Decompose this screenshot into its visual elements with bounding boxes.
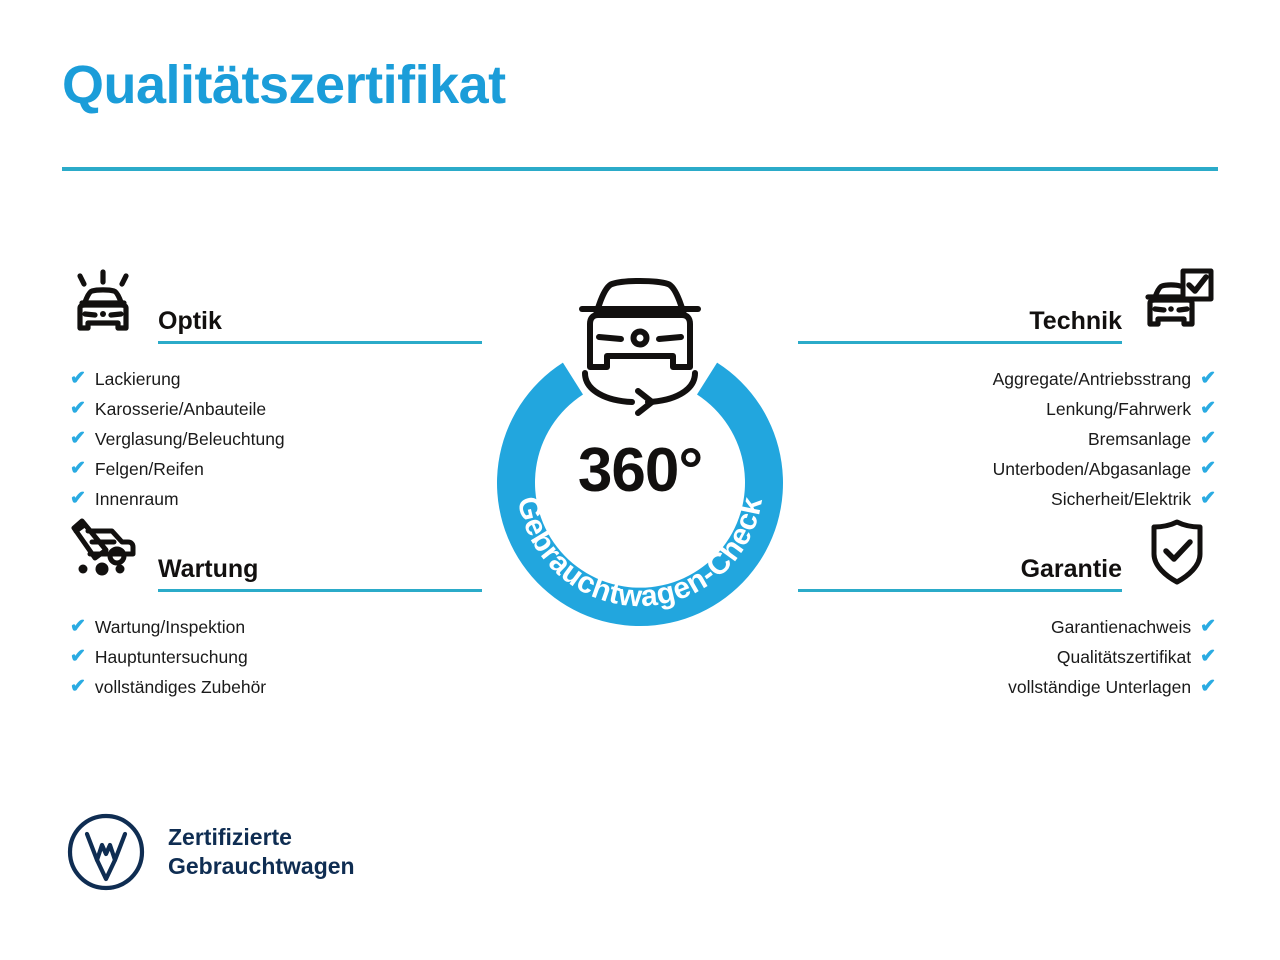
section-technik: Technik ✔Aggregate/Antriebsstrang ✔Lenku…: [798, 252, 1218, 514]
check-icon: ✔: [1200, 369, 1216, 388]
section-title-garantie: Garantie: [798, 556, 1122, 590]
check-icon: ✔: [1200, 677, 1216, 696]
check-icon: ✔: [70, 677, 86, 696]
list-item-label: Verglasung/Beleuchtung: [95, 424, 285, 454]
check-icon: ✔: [70, 647, 86, 666]
section-wartung: Wartung ✔Wartung/Inspektion ✔Hauptunters…: [62, 500, 482, 702]
checklist-optik: ✔Lackierung ✔Karosserie/Anbauteile ✔Verg…: [62, 344, 482, 514]
car-service-pen-icon: [62, 510, 144, 592]
section-underline-garantie: [798, 589, 1122, 592]
check-icon: ✔: [1200, 399, 1216, 418]
car-checkbox-icon: [1136, 262, 1218, 344]
badge-number: 360°: [455, 440, 825, 502]
list-item: ✔Bremsanlage: [1088, 424, 1218, 454]
footer-brand: Zertifizierte Gebrauchtwagen: [66, 812, 355, 892]
check-icon: ✔: [1200, 429, 1216, 448]
volkswagen-logo: [66, 812, 146, 892]
section-title-wartung: Wartung: [158, 556, 482, 590]
list-item: ✔Karosserie/Anbauteile: [70, 394, 482, 424]
checklist-wartung: ✔Wartung/Inspektion ✔Hauptuntersuchung ✔…: [62, 592, 482, 702]
list-item-label: Hauptuntersuchung: [95, 642, 248, 672]
footer-line-2: Gebrauchtwagen: [168, 852, 355, 881]
list-item: ✔vollständige Unterlagen: [1008, 672, 1218, 702]
section-underline-technik: [798, 341, 1122, 344]
list-item: ✔Aggregate/Antriebsstrang: [993, 364, 1218, 394]
list-item-label: Garantienachweis: [1051, 612, 1191, 642]
badge-360-gebrauchtwagen-check: Gebrauchtwagen-Check 360°: [455, 243, 825, 643]
list-item-label: Wartung/Inspektion: [95, 612, 245, 642]
section-garantie: Garantie ✔Garantienachweis ✔Qualitätszer…: [798, 500, 1218, 702]
list-item-label: vollständige Unterlagen: [1008, 672, 1191, 702]
section-optik: Optik ✔Lackierung ✔Karosserie/Anbauteile…: [62, 252, 482, 514]
list-item-label: Unterboden/Abgasanlage: [993, 454, 1192, 484]
footer-line-1: Zertifizierte: [168, 823, 355, 852]
list-item: ✔Qualitätszertifikat: [1057, 642, 1218, 672]
car-shine-icon: [62, 262, 144, 344]
list-item-label: Felgen/Reifen: [95, 454, 204, 484]
checklist-technik: ✔Aggregate/Antriebsstrang ✔Lenkung/Fahrw…: [798, 344, 1218, 514]
section-underline-optik: [158, 341, 482, 344]
check-icon: ✔: [70, 617, 86, 636]
check-icon: ✔: [70, 459, 86, 478]
list-item-label: Bremsanlage: [1088, 424, 1191, 454]
check-icon: ✔: [70, 429, 86, 448]
list-item: ✔Garantienachweis: [1051, 612, 1218, 642]
list-item-label: Qualitätszertifikat: [1057, 642, 1191, 672]
list-item-label: Karosserie/Anbauteile: [95, 394, 266, 424]
check-icon: ✔: [70, 369, 86, 388]
check-icon: ✔: [1200, 459, 1216, 478]
list-item: ✔Verglasung/Beleuchtung: [70, 424, 482, 454]
shield-check-icon: [1136, 510, 1218, 592]
list-item: ✔Felgen/Reifen: [70, 454, 482, 484]
section-underline-wartung: [158, 589, 482, 592]
checklist-garantie: ✔Garantienachweis ✔Qualitätszertifikat ✔…: [798, 592, 1218, 702]
title-divider: [62, 167, 1218, 171]
list-item: ✔Wartung/Inspektion: [70, 612, 482, 642]
check-icon: ✔: [1200, 617, 1216, 636]
list-item: ✔Hauptuntersuchung: [70, 642, 482, 672]
list-item-label: Lenkung/Fahrwerk: [1046, 394, 1191, 424]
car-rotate-icon: [582, 281, 698, 413]
list-item: ✔Lenkung/Fahrwerk: [1046, 394, 1218, 424]
footer-brand-text: Zertifizierte Gebrauchtwagen: [168, 823, 355, 882]
check-icon: ✔: [70, 399, 86, 418]
list-item-label: vollständiges Zubehör: [95, 672, 266, 702]
list-item-label: Aggregate/Antriebsstrang: [993, 364, 1191, 394]
list-item: ✔Lackierung: [70, 364, 482, 394]
badge-curved-label: Gebrauchtwagen-Check: [511, 493, 769, 613]
section-title-technik: Technik: [798, 308, 1122, 342]
list-item: ✔Unterboden/Abgasanlage: [993, 454, 1218, 484]
list-item-label: Lackierung: [95, 364, 181, 394]
list-item: ✔vollständiges Zubehör: [70, 672, 482, 702]
check-icon: ✔: [1200, 647, 1216, 666]
page-title: Qualitätszertifikat: [62, 58, 506, 112]
section-title-optik: Optik: [158, 308, 482, 342]
